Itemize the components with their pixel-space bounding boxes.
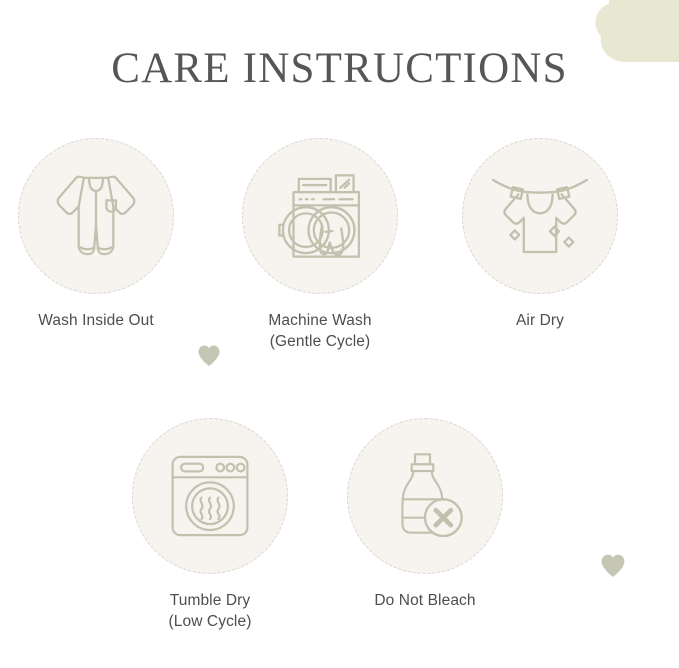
baby-onesie-icon — [44, 164, 148, 268]
icon-circle — [462, 138, 618, 294]
heart-separator-icon — [197, 344, 221, 368]
icon-circle — [132, 418, 288, 574]
instruction-label: Machine Wash — [268, 312, 371, 329]
instruction-item-wash-inside-out: Wash Inside Out — [13, 138, 179, 331]
heart-corner-icon — [600, 553, 626, 579]
instruction-sublabel: (Gentle Cycle) — [237, 331, 403, 352]
instruction-caption: Wash Inside Out — [13, 310, 179, 331]
instruction-item-tumble-dry: Tumble Dry (Low Cycle) — [127, 418, 293, 632]
instruction-caption: Air Dry — [457, 310, 623, 331]
icon-circle — [347, 418, 503, 574]
page-title: CARE INSTRUCTIONS — [0, 44, 679, 93]
instruction-label: Do Not Bleach — [374, 592, 475, 609]
instruction-caption: Do Not Bleach — [342, 590, 508, 611]
instruction-label: Air Dry — [516, 312, 564, 329]
icon-circle — [18, 138, 174, 294]
dryer-heat-icon — [159, 445, 261, 547]
instruction-item-do-not-bleach: Do Not Bleach — [342, 418, 508, 611]
instruction-caption: Machine Wash (Gentle Cycle) — [237, 310, 403, 352]
instruction-label: Tumble Dry — [170, 592, 251, 609]
instruction-item-air-dry: Air Dry — [457, 138, 623, 331]
clothesline-shirt-icon — [486, 162, 594, 270]
washing-machine-icon — [267, 163, 373, 269]
instruction-sublabel: (Low Cycle) — [127, 611, 293, 632]
bleach-bottle-crossed-icon — [375, 446, 475, 546]
instruction-label: Wash Inside Out — [38, 312, 154, 329]
instruction-caption: Tumble Dry (Low Cycle) — [127, 590, 293, 632]
icon-circle — [242, 138, 398, 294]
instruction-item-machine-wash: Machine Wash (Gentle Cycle) — [237, 138, 403, 352]
